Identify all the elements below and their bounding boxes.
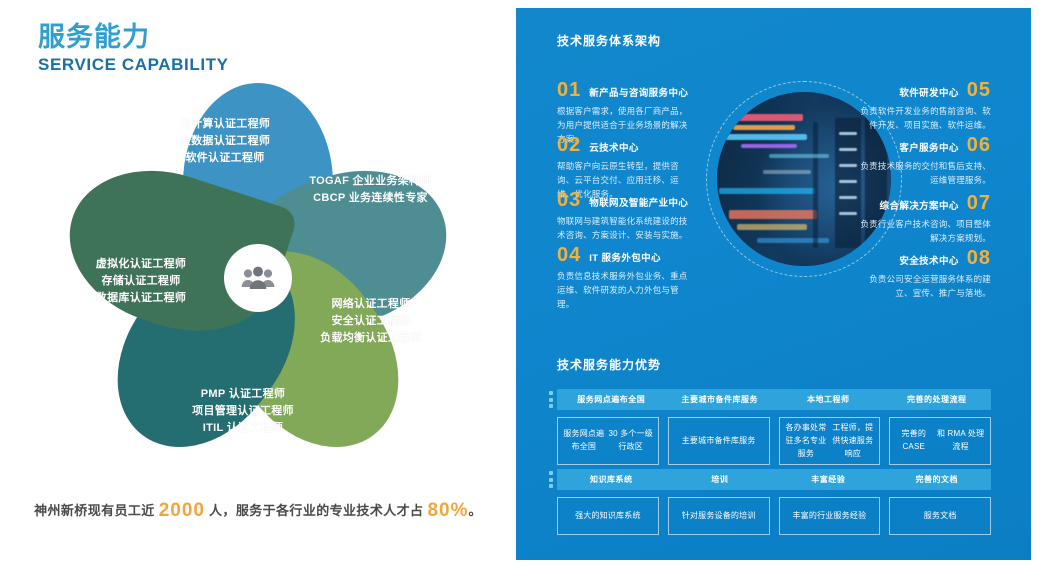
petal-line: 数据库认证工程师 [46,290,236,307]
arch-item-08: 安全技术中心 08 负责公司安全运营服务体系的建立、宣传、推广与落地。 [852,248,991,300]
arch-item-desc: 负责公司安全运营服务体系的建立、宣传、推广与落地。 [852,272,991,300]
advantage-cell: 各办事处常驻多名专业服务工程师，提供快速服务响应 [779,417,881,465]
advantage-header-cell: 知识库系统 [557,469,666,490]
advantage-row-1-cells: 服务网点遍布全国30 多个一级行政区 主要城市备件库服务 各办事处常驻多名专业服… [557,417,991,465]
petal-label-pmp-project-itil: PMP 认证工程师 项目管理认证工程师 ITIL 认证工程师 [148,386,338,437]
arch-item-index: 07 [967,193,991,213]
petal-label-network-security-loadbalance: 网络认证工程师 安全认证工程师 负载均衡认证工程师 [276,296,466,347]
advantage-cell: 服务文档 [889,497,991,535]
arch-item-head: 03 物联网及智能产业中心 [557,190,693,210]
arch-item-title: 云技术中心 [589,140,639,154]
row-notch-decoration [549,391,555,408]
arch-item-desc: 负责行业客户技术咨询、项目整体解决方案规划。 [852,217,991,245]
arch-item-05: 软件研发中心 05 负责软件开发业务的售前咨询、软件开发、项目实施、软件运维。 [856,80,991,132]
arch-item-desc: 负责技术服务的交付和售后支持、运维管理服务。 [856,159,991,187]
advantage-cell: 丰富的行业服务经验 [779,497,881,535]
advantage-header-cell: 完善的文档 [883,469,992,490]
petal-label-cloud-bigdata-software: 云计算认证工程师 大数据认证工程师 软件认证工程师 [130,116,320,167]
petal-line: CBCP 业务连续性专家 [273,190,468,207]
petal-line: 安全认证工程师 [276,313,466,330]
arch-item-title: 综合解决方案中心 [880,198,959,212]
caption-part-3: 。 [468,503,481,518]
arch-item-06: 客户服务中心 06 负责技术服务的交付和售后支持、运维管理服务。 [856,135,991,187]
capability-flower-diagram: 云计算认证工程师 大数据认证工程师 软件认证工程师 TOGAF 企业业务架构师 … [28,78,488,478]
advantage-cell: 完善的 CASE和 RMA 处理流程 [889,417,991,465]
petal-line: 大数据认证工程师 [130,133,320,150]
petal-line: 负载均衡认证工程师 [276,330,466,347]
advantage-header-cell: 本地工程师 [774,389,883,410]
row-notch-decoration [549,471,555,488]
advantage-cell: 服务网点遍布全国30 多个一级行政区 [557,417,659,465]
advantage-header-cell: 完善的处理流程 [883,389,992,410]
arch-item-03: 03 物联网及智能产业中心 物联网与建筑智能化系统建设的技术咨询、方案设计、安装… [557,190,693,242]
arch-item-desc: 物联网与建筑智能化系统建设的技术咨询、方案设计、安装与实施。 [557,214,693,242]
arch-item-title: 物联网及智能产业中心 [589,195,688,209]
arch-item-head: 02 云技术中心 [557,135,689,155]
arch-item-title: 安全技术中心 [899,253,958,267]
arch-item-index: 05 [967,80,991,100]
arch-item-title: 客户服务中心 [899,140,958,154]
arch-item-head: 04 IT 服务外包中心 [557,245,693,265]
petal-line: 软件认证工程师 [130,150,320,167]
advantage-row-1-headers: 服务网点遍布全国 主要城市备件库服务 本地工程师 完善的处理流程 [557,389,991,410]
page-title-en: SERVICE CAPABILITY [38,55,229,75]
advantage-cell: 主要城市备件库服务 [668,417,770,465]
advantage-cell: 强大的知识库系统 [557,497,659,535]
petal-line: 虚拟化认证工程师 [46,256,236,273]
petal-line: 存储认证工程师 [46,273,236,290]
advantage-header-cell: 服务网点遍布全国 [557,389,666,410]
advantage-header-cell: 丰富经验 [774,469,883,490]
arch-item-index: 01 [557,80,581,100]
arch-item-index: 08 [967,248,991,268]
petal-label-togaf-cbcp: TOGAF 企业业务架构师 CBCP 业务连续性专家 [273,173,468,207]
arch-item-title: IT 服务外包中心 [589,250,661,264]
advantage-header-cell: 培训 [666,469,775,490]
people-group-icon [241,266,275,290]
arch-item-index: 04 [557,245,581,265]
arch-item-07: 综合解决方案中心 07 负责行业客户技术咨询、项目整体解决方案规划。 [852,193,991,245]
advantage-heading: 技术服务能力优势 [557,356,661,373]
caption-part-2: 人，服务于各行业的专业技术人才占 [209,503,423,518]
petal-line: TOGAF 企业业务架构师 [273,173,468,190]
advantage-row-1: 服务网点遍布全国 主要城市备件库服务 本地工程师 完善的处理流程 服务网点遍布全… [557,389,991,465]
petal-label-virtualization-storage-database: 虚拟化认证工程师 存储认证工程师 数据库认证工程师 [46,256,236,307]
architecture-heading: 技术服务体系架构 [557,32,661,49]
employee-stats-caption: 神州新桥现有员工近 2000 人，服务于各行业的专业技术人才占 80%。 [0,500,516,522]
arch-item-title: 新产品与咨询服务中心 [589,85,688,99]
advantage-row-2-headers: 知识库系统 培训 丰富经验 完善的文档 [557,469,991,490]
arch-item-index: 03 [557,190,581,210]
caption-employee-count: 2000 [159,500,205,521]
arch-item-title: 软件研发中心 [899,85,958,99]
petal-line: 项目管理认证工程师 [148,403,338,420]
arch-item-index: 06 [967,135,991,155]
advantage-row-2-cells: 强大的知识库系统 针对服务设备的培训 丰富的行业服务经验 服务文档 [557,497,991,535]
arch-item-index: 02 [557,135,581,155]
arch-item-head: 客户服务中心 06 [856,135,991,155]
arch-item-head: 综合解决方案中心 07 [852,193,991,213]
arch-item-desc: 负责软件开发业务的售前咨询、软件开发、项目实施、软件运维。 [856,104,991,132]
right-panel: 技术服务体系架构 0 [516,8,1031,560]
arch-item-head: 01 新产品与咨询服务中心 [557,80,689,100]
caption-percent: 80% [427,500,468,521]
petal-line: 网络认证工程师 [276,296,466,313]
advantage-cell: 针对服务设备的培训 [668,497,770,535]
arch-item-head: 安全技术中心 08 [852,248,991,268]
arch-item-desc: 负责信息技术服务外包业务、重点运维、软件研发的人力外包与管理。 [557,269,693,311]
petal-line: ITIL 认证工程师 [148,420,338,437]
left-panel: 服务能力 SERVICE CAPABILITY 云计算认证工程师 大数据认证工程… [0,0,516,576]
page-title: 服务能力 SERVICE CAPABILITY [38,22,229,75]
petal-line: PMP 认证工程师 [148,386,338,403]
page-title-cn: 服务能力 [38,22,229,53]
flower-center-hub [227,247,289,309]
arch-item-04: 04 IT 服务外包中心 负责信息技术服务外包业务、重点运维、软件研发的人力外包… [557,245,693,311]
arch-item-head: 软件研发中心 05 [856,80,991,100]
advantage-row-2: 知识库系统 培训 丰富经验 完善的文档 强大的知识库系统 针对服务设备的培训 丰… [557,469,991,535]
caption-part-1: 神州新桥现有员工近 [34,503,155,518]
advantage-header-cell: 主要城市备件库服务 [666,389,775,410]
petal-line: 云计算认证工程师 [130,116,320,133]
